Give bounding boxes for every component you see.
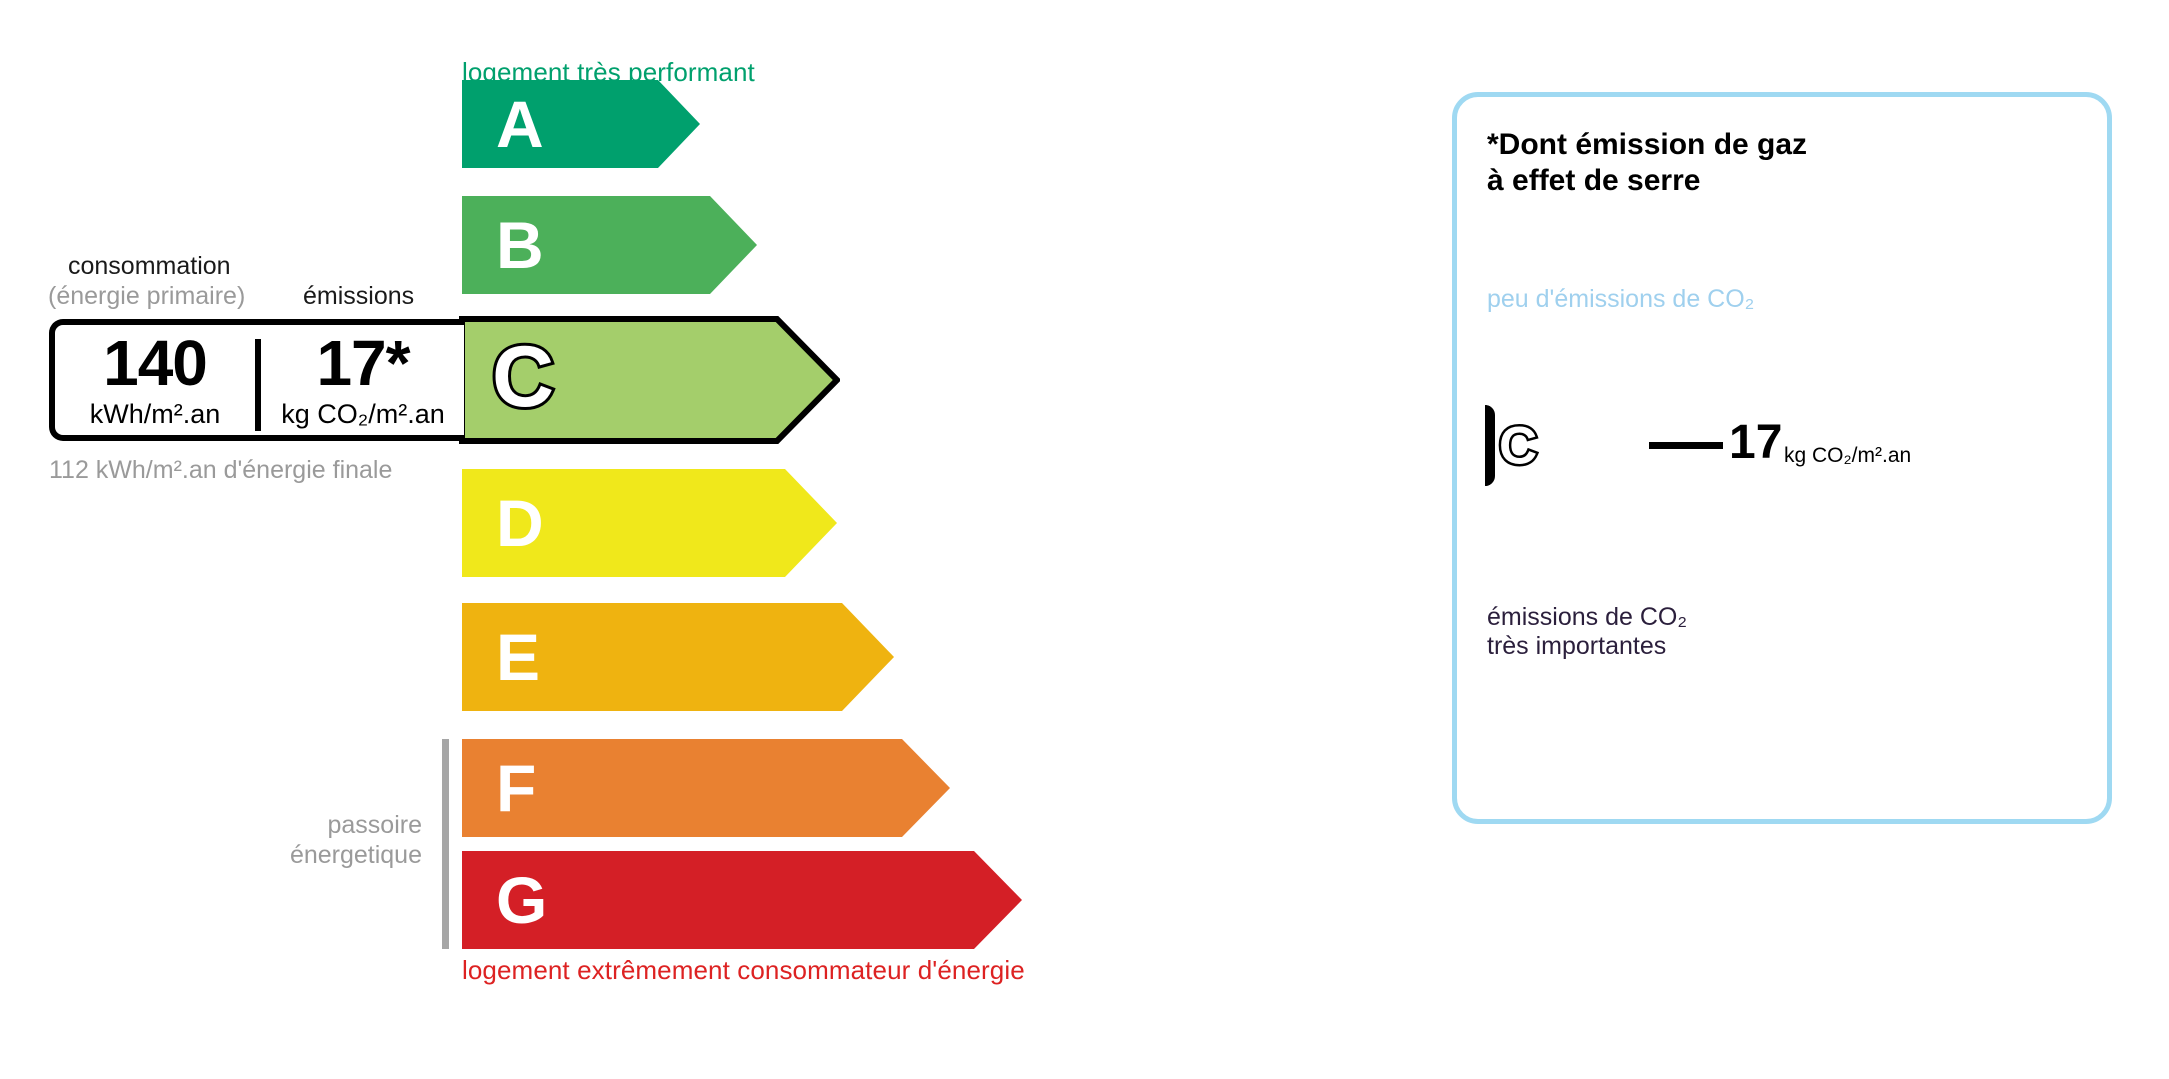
co2-top-caption: peu d'émissions de CO₂ [1487,285,1754,314]
co2-leader-line [1649,442,1723,449]
emission-unit: kg CO₂/m².an [263,401,463,428]
co2-letter-b: B [1497,364,1519,395]
energy-arrow-d: D [462,469,837,577]
energy-row-c: C [462,319,837,441]
energy-letter-e: E [496,624,540,690]
co2-letter-d: D [1497,496,1519,527]
energy-scale-bottom-caption: logement extrêmement consommateur d'éner… [462,955,1025,986]
co2-bar-c [1485,405,1495,486]
energy-arrow-c: C [462,316,837,438]
energy-letter-a: A [496,91,544,157]
energy-row-f: F [462,739,950,837]
value-box: 140 kWh/m².an 17* kg CO₂/m².an [49,319,464,441]
final-energy-note: 112 kWh/m².an d'énergie finale [49,455,392,485]
co2-row-d: D [1485,491,1671,532]
energy-row-a: A [462,80,700,168]
co2-emission-panel: *Dont émission de gaz à effet de serre p… [1452,92,2112,824]
energy-letter-c: C [492,334,554,420]
label-consommation: consommation [68,252,231,281]
co2-letter-e: E [1497,542,1518,573]
emission-cell: 17* kg CO₂/m².an [263,325,463,435]
passoire-label: passoire énergetique [200,810,422,870]
energy-letter-f: F [496,755,536,821]
energy-arrow-f: F [462,739,950,837]
co2-row-e: E [1485,537,1703,578]
emission-value: 17* [263,331,463,395]
value-box-divider [255,339,261,431]
energy-performance-diagram: logement très performant A B C [0,0,1400,1079]
energy-letter-b: B [496,212,544,278]
energy-arrow-b: B [462,196,757,294]
consumption-unit: kWh/m².an [55,401,255,428]
energy-letter-g: G [496,867,547,933]
energy-row-b: B [462,196,757,294]
co2-bottom-caption: émissions de CO₂ très importantes [1487,603,1687,661]
co2-value: 17 [1729,419,1782,467]
energy-arrow-e: E [462,603,894,711]
co2-value-unit: kg CO₂/m².an [1784,445,1911,466]
passoire-bracket [442,739,449,949]
consumption-cell: 140 kWh/m².an [55,325,255,435]
label-emissions: émissions [303,282,414,311]
co2-letter-a: A [1497,318,1519,349]
consumption-value: 140 [55,331,255,395]
energy-row-g: G [462,851,1022,949]
energy-arrow-g: G [462,851,1022,949]
co2-row-a: A [1485,313,1571,354]
co2-row-c: C [1485,405,1637,486]
energy-letter-d: D [496,490,544,556]
energy-arrow-a: A [462,80,700,168]
energy-row-e: E [462,603,894,711]
label-energie-primaire: (énergie primaire) [48,282,245,311]
energy-row-d: D [462,469,837,577]
co2-letter-c: C [1499,419,1537,472]
co2-row-b: B [1485,359,1603,400]
co2-panel-title: *Dont émission de gaz à effet de serre [1487,127,1807,199]
